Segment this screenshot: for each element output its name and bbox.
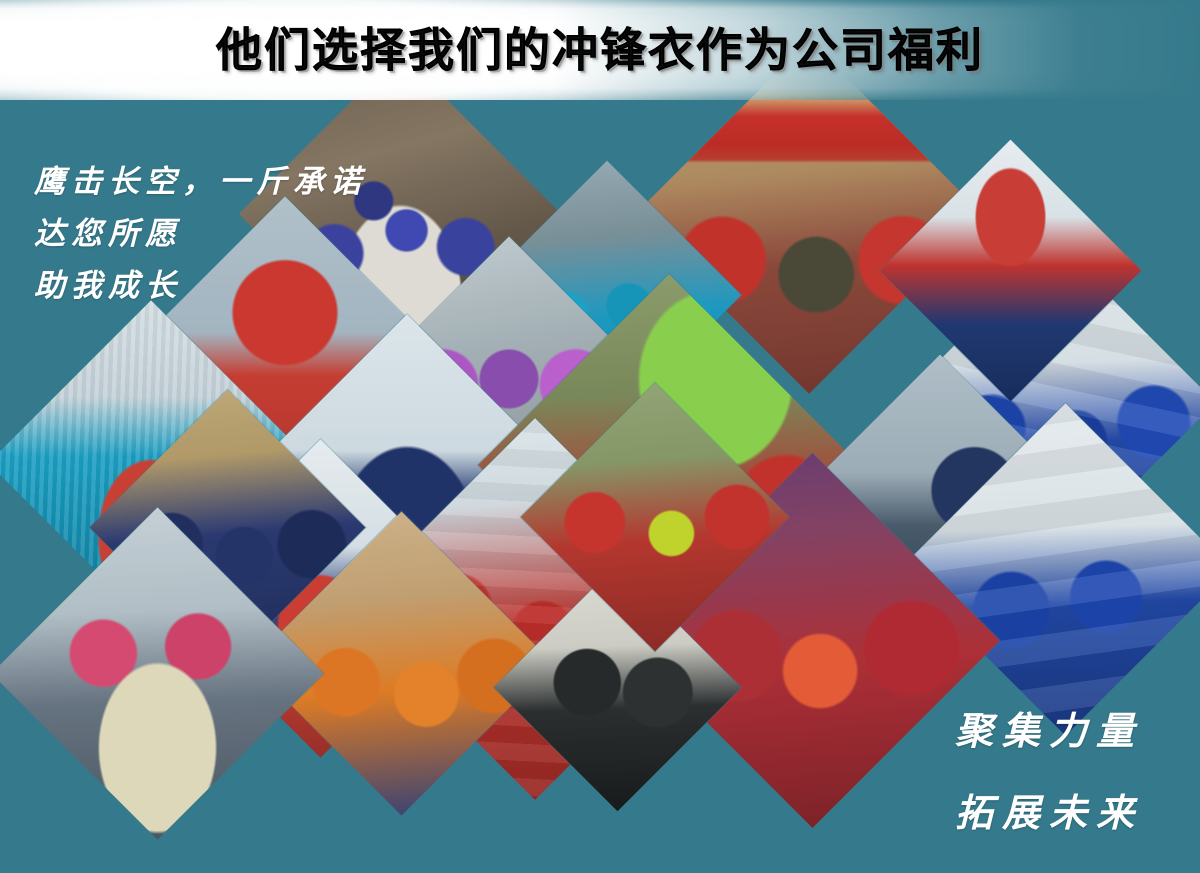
slogan-left-line-3: 助我成长: [34, 260, 182, 305]
slogan-left-line-2: 达您所愿: [34, 208, 182, 253]
page-title: 他们选择我们的冲锋衣作为公司福利: [0, 20, 1200, 80]
slogan-bottomright-line-1: 聚集力量: [955, 700, 1143, 755]
poster-canvas: 他们选择我们的冲锋衣作为公司福利 鹰击长空，一斤承诺 达您所愿 助我成长 聚集力…: [0, 0, 1200, 873]
slogan-bottomright-line-2: 拓展未来: [955, 782, 1143, 837]
slogan-left-line-1: 鹰击长空，一斤承诺: [34, 156, 367, 201]
